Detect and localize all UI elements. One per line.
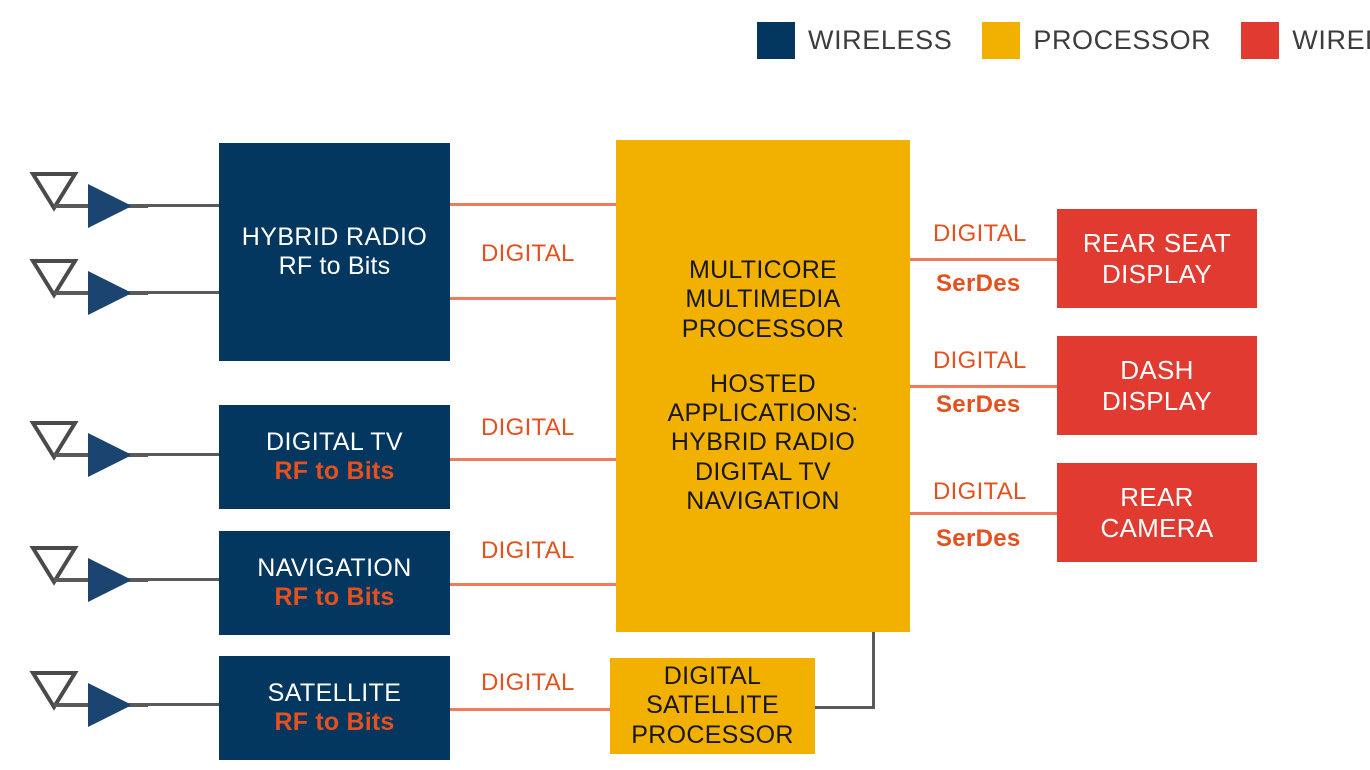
- hosted-line-3: HYBRID RADIO: [671, 428, 855, 457]
- antenna-icon: [33, 423, 75, 457]
- amplifier-icon: [88, 683, 132, 727]
- link-label-hybrid-radio-digital: DIGITAL: [481, 240, 575, 268]
- block-satellite-subtitle: RF to Bits: [274, 708, 394, 737]
- link-label-satellite-digital: DIGITAL: [481, 669, 575, 697]
- block-rear-seat-display[interactable]: REAR SEAT DISPLAY: [1057, 209, 1257, 308]
- antenna-amplifier-group-5: [28, 667, 148, 735]
- block-navigation-title: NAVIGATION: [257, 554, 411, 583]
- block-hybrid-radio-title: HYBRID RADIO: [242, 223, 427, 252]
- link-rear-camera: [908, 512, 1058, 515]
- link-label-rear-seat-digital: DIGITAL: [933, 220, 1027, 248]
- block-multicore-multimedia-processor[interactable]: MULTICORE MULTIMEDIA PROCESSOR HOSTED AP…: [616, 140, 910, 632]
- hosted-line-2: APPLICATIONS:: [668, 399, 859, 428]
- block-hybrid-radio-subtitle: RF to Bits: [279, 252, 391, 281]
- link-label-dash-digital: DIGITAL: [933, 347, 1027, 375]
- multicore-line-1: MULTICORE: [689, 256, 837, 285]
- digital-satellite-line-1: DIGITAL: [664, 662, 762, 691]
- satellite-processor-return-horizontal: [812, 706, 875, 709]
- amplifier-icon: [88, 558, 132, 602]
- antenna-amplifier-group-2: [28, 255, 148, 323]
- hosted-line-1: HOSTED: [710, 370, 816, 399]
- feed-line-4: [130, 578, 220, 581]
- antenna-icon: [33, 174, 75, 208]
- amplifier-icon: [88, 271, 132, 315]
- block-rear-camera[interactable]: REAR CAMERA: [1057, 463, 1257, 562]
- link-navigation: [448, 583, 618, 586]
- dash-display-line-2: DISPLAY: [1102, 386, 1212, 416]
- block-digital-tv-title: DIGITAL TV: [266, 428, 403, 457]
- antenna-icon: [33, 548, 75, 582]
- block-navigation-subtitle: RF to Bits: [274, 583, 394, 612]
- rear-camera-line-1: REAR: [1120, 482, 1193, 512]
- multicore-line-2: MULTIMEDIA: [685, 285, 840, 314]
- amplifier-icon: [88, 433, 132, 477]
- legend-label-wired: WIRED: [1292, 25, 1370, 56]
- link-dash-display: [908, 385, 1058, 388]
- block-satellite-title: SATELLITE: [268, 679, 402, 708]
- satellite-processor-return-vertical: [872, 632, 875, 709]
- legend-item-wired: WIRED: [1241, 22, 1370, 59]
- antenna-amplifier-group-4: [28, 542, 148, 610]
- legend-label-wireless: WIRELESS: [808, 25, 952, 56]
- antenna-amplifier-group-1: [28, 168, 148, 236]
- dash-display-line-1: DASH: [1120, 355, 1193, 385]
- rear-seat-display-line-1: REAR SEAT: [1083, 228, 1231, 258]
- link-label-camera-serdes: SerDes: [936, 525, 1021, 553]
- hosted-line-4: DIGITAL TV: [695, 458, 831, 487]
- legend-swatch-wireless-icon: [757, 22, 795, 59]
- link-hybrid-radio-top: [448, 203, 618, 206]
- legend: WIRELESS PROCESSOR WIRED: [757, 20, 1370, 60]
- digital-satellite-line-3: PROCESSOR: [631, 721, 793, 750]
- link-satellite: [448, 708, 610, 711]
- digital-satellite-line-2: SATELLITE: [646, 691, 779, 720]
- block-hybrid-radio[interactable]: HYBRID RADIO RF to Bits: [219, 143, 450, 361]
- antenna-icon: [33, 673, 75, 707]
- feed-line-5: [130, 703, 220, 706]
- feed-line-2: [130, 291, 220, 294]
- legend-item-wireless: WIRELESS: [757, 22, 982, 59]
- block-satellite[interactable]: SATELLITE RF to Bits: [219, 656, 450, 760]
- antenna-icon: [33, 261, 75, 295]
- legend-label-processor: PROCESSOR: [1033, 25, 1211, 56]
- antenna-amplifier-group-3: [28, 417, 148, 485]
- diagram-canvas: WIRELESS PROCESSOR WIRED: [0, 0, 1370, 770]
- link-digital-tv: [448, 458, 618, 461]
- hosted-line-5: NAVIGATION: [686, 487, 839, 516]
- legend-swatch-processor-icon: [982, 22, 1020, 59]
- rear-camera-line-2: CAMERA: [1100, 513, 1213, 543]
- link-label-navigation-digital: DIGITAL: [481, 537, 575, 565]
- link-label-dash-serdes: SerDes: [936, 391, 1021, 419]
- link-label-digital-tv-digital: DIGITAL: [481, 414, 575, 442]
- block-digital-satellite-processor[interactable]: DIGITAL SATELLITE PROCESSOR: [610, 658, 815, 754]
- link-hybrid-radio-bottom: [448, 297, 618, 300]
- link-label-rear-seat-serdes: SerDes: [936, 270, 1021, 298]
- block-dash-display[interactable]: DASH DISPLAY: [1057, 336, 1257, 435]
- legend-swatch-wired-icon: [1241, 22, 1279, 59]
- multicore-line-3: PROCESSOR: [682, 315, 844, 344]
- rear-seat-display-line-2: DISPLAY: [1102, 259, 1212, 289]
- block-digital-tv[interactable]: DIGITAL TV RF to Bits: [219, 405, 450, 509]
- legend-item-processor: PROCESSOR: [982, 22, 1241, 59]
- link-rear-seat-display: [908, 258, 1058, 261]
- amplifier-icon: [88, 184, 132, 228]
- feed-line-3: [130, 453, 220, 456]
- feed-line-1: [130, 204, 220, 207]
- link-label-camera-digital: DIGITAL: [933, 478, 1027, 506]
- block-navigation[interactable]: NAVIGATION RF to Bits: [219, 531, 450, 635]
- block-digital-tv-subtitle: RF to Bits: [274, 457, 394, 486]
